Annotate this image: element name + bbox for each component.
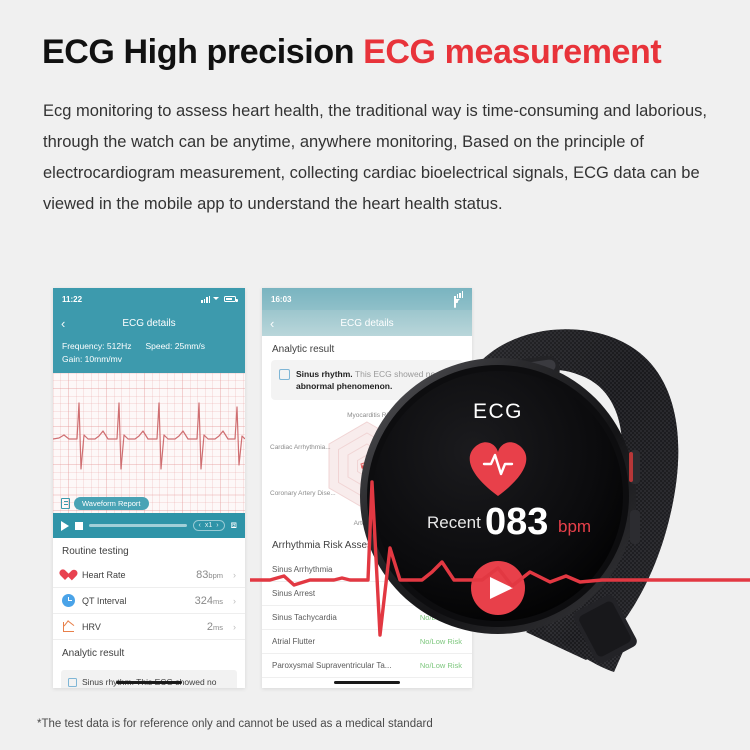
wifi-icon (213, 296, 221, 303)
chevron-right-icon: › (233, 570, 236, 580)
signal-icon (201, 296, 210, 303)
speed-prev-button[interactable]: ‹ (199, 522, 201, 529)
clipboard-icon (68, 678, 77, 687)
smartwatch-svg: ECG Recent 083 bpm (330, 300, 720, 690)
routine-label: Heart Rate (82, 570, 189, 580)
meta-gain: Gain: 10mm/mv (62, 353, 236, 366)
right-status-time: 16:03 (271, 295, 291, 304)
routine-value-unit: ms (213, 623, 223, 632)
play-icon[interactable] (61, 521, 69, 531)
back-icon[interactable]: ‹ (61, 317, 65, 330)
stop-icon[interactable] (75, 522, 83, 530)
list-item[interactable]: Heart Rate 83bpm › (53, 562, 245, 588)
left-status-bar: 11:22 (53, 288, 245, 310)
routine-label: QT Interval (82, 596, 188, 606)
watch-face-title: ECG (473, 400, 523, 423)
battery-icon (224, 296, 236, 302)
left-meta-strip: Frequency: 512Hz Speed: 25mm/s Gain: 10m… (53, 336, 245, 373)
left-nav-title: ECG details (53, 318, 245, 329)
progress-slider[interactable] (89, 524, 187, 527)
clipboard-icon (279, 369, 290, 380)
left-navbar: ‹ ECG details (53, 310, 245, 336)
risk-label: Sinus Tachycardia (272, 613, 337, 622)
home-indicator (116, 681, 182, 684)
chart-icon (62, 620, 75, 633)
page-title: ECG High precision ECG measurement (42, 33, 661, 72)
waveform-player-bar[interactable]: ‹ x1 › ⧈ (53, 513, 245, 538)
analytic-result-card: Sinus rhythm. This ECG showed no (61, 670, 237, 688)
routine-value: 324ms (195, 595, 223, 607)
left-status-time: 11:22 (62, 295, 82, 304)
watch-recent-label: Recent (427, 513, 481, 532)
fullscreen-icon[interactable]: ⧈ (231, 521, 237, 531)
risk-label: Atrial Flutter (272, 637, 315, 646)
watch-bpm-value: 083 (485, 501, 548, 543)
report-document-icon (61, 498, 70, 509)
page-description: Ecg monitoring to assess heart health, t… (43, 96, 713, 220)
ecg-waveform-graph (53, 373, 245, 495)
play-button-icon[interactable] (471, 561, 525, 615)
radar-label-left-top: Cardiac Arrhythmia... (270, 444, 331, 452)
list-item[interactable]: QT Interval 324ms › (53, 588, 245, 614)
speed-control[interactable]: ‹ x1 › (193, 520, 225, 531)
left-status-indicators (201, 296, 236, 303)
list-item[interactable]: HRV 2ms › (53, 614, 245, 640)
routine-value: 83bpm (196, 569, 223, 581)
footnote-disclaimer: *The test data is for reference only and… (37, 718, 433, 730)
routine-value-unit: ms (213, 597, 223, 606)
chevron-right-icon: › (233, 596, 236, 606)
routine-value-unit: bpm (208, 571, 223, 580)
page-title-plain: ECG High precision (42, 33, 363, 71)
routine-value-number: 324 (195, 595, 213, 607)
back-icon[interactable]: ‹ (270, 317, 274, 330)
phone-left-screenshot: 11:22 ‹ ECG details Frequency: 512Hz Spe… (53, 288, 245, 688)
speed-next-button[interactable]: › (216, 522, 218, 529)
routine-label: HRV (82, 622, 200, 632)
routine-value-number: 83 (196, 569, 208, 581)
waveform-report-row[interactable]: Waveform Report (53, 495, 245, 513)
ecg-waveform-svg (53, 373, 245, 495)
analytic-result-heading: Analytic result (53, 640, 245, 664)
routine-value: 2ms (207, 621, 223, 633)
risk-label: Sinus Arrhythmia (272, 565, 332, 574)
radar-label-left-bottom: Coronary Artery Dise... (270, 490, 336, 498)
watch-button-bottom[interactable] (630, 510, 640, 544)
smartwatch-product-image: ECG Recent 083 bpm (330, 300, 720, 690)
risk-label: Sinus Arrest (272, 589, 315, 598)
watch-bpm-unit: bpm (558, 517, 591, 536)
waveform-report-badge[interactable]: Waveform Report (74, 497, 149, 510)
heart-icon (62, 568, 75, 581)
page-title-accent: ECG measurement (363, 33, 661, 71)
speed-value: x1 (205, 522, 212, 529)
meta-frequency: Frequency: 512Hz (62, 340, 131, 353)
chevron-right-icon: › (233, 622, 236, 632)
routine-testing-heading: Routine testing (53, 538, 245, 562)
meta-speed: Speed: 25mm/s (145, 340, 205, 353)
clock-icon (62, 594, 75, 607)
